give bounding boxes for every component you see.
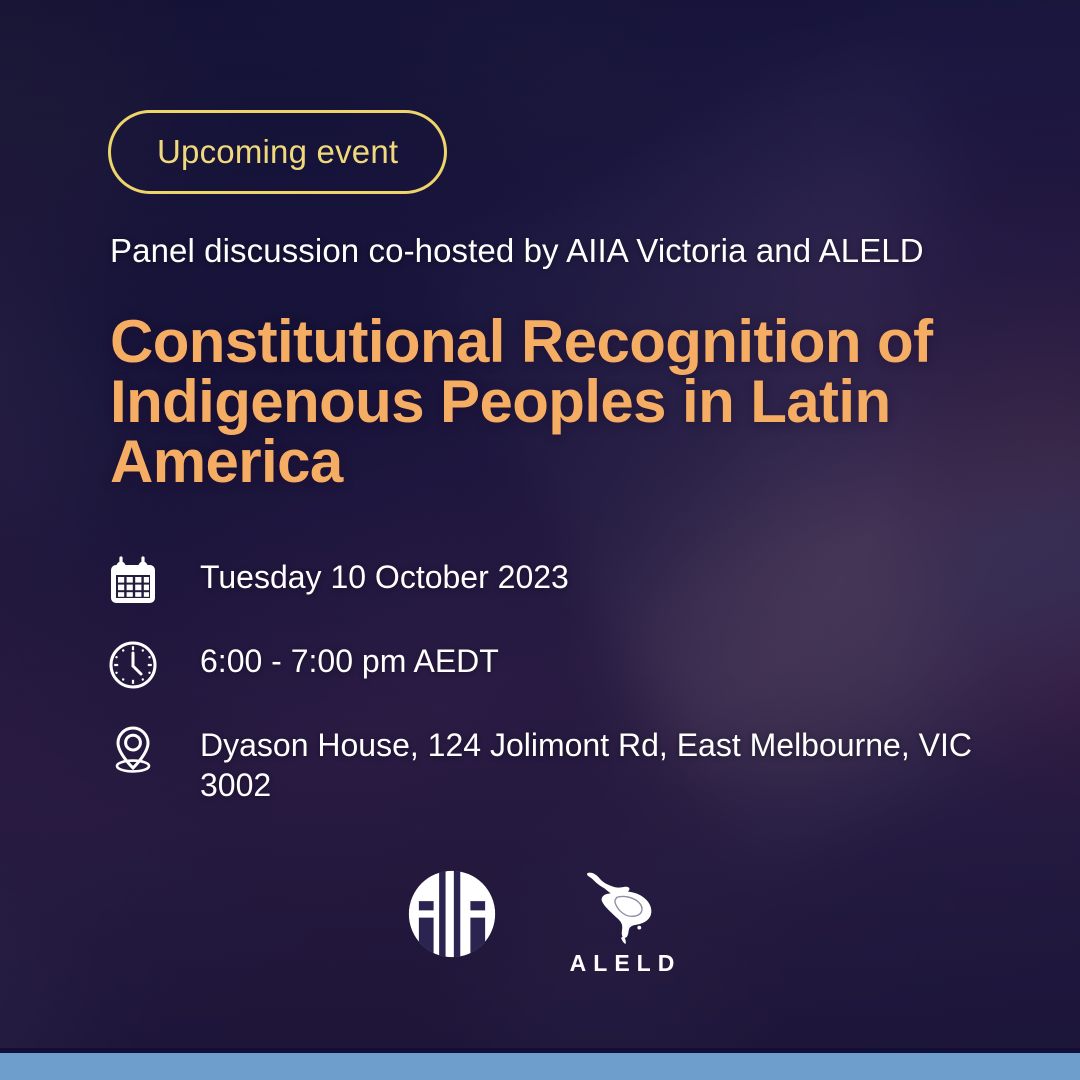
badge-label: Upcoming event [157, 133, 398, 171]
detail-row-time: 6:00 - 7:00 pm AEDT [104, 636, 984, 694]
event-title: Constitutional Recognition of Indigenous… [110, 312, 960, 492]
clock-icon [104, 636, 162, 694]
bottom-bar [0, 1053, 1080, 1080]
upcoming-event-badge: Upcoming event [108, 110, 447, 194]
aleld-logo: ALELD [570, 868, 674, 977]
detail-row-location: Dyason House, 124 Jolimont Rd, East Melb… [104, 720, 984, 805]
detail-row-date: Tuesday 10 October 2023 [104, 552, 984, 610]
poster-content: Upcoming event Panel discussion co-hoste… [0, 0, 1080, 1080]
event-poster: Upcoming event Panel discussion co-hoste… [0, 0, 1080, 1080]
latin-america-australia-map-icon [578, 868, 666, 944]
event-details-list: Tuesday 10 October 2023 [104, 552, 984, 831]
detail-text-date: Tuesday 10 October 2023 [200, 552, 569, 598]
detail-text-location: Dyason House, 124 Jolimont Rd, East Melb… [200, 720, 984, 805]
location-pin-icon [104, 720, 162, 778]
calendar-icon [104, 552, 162, 610]
aleld-wordmark: ALELD [563, 950, 682, 977]
event-subtitle: Panel discussion co-hosted by AIIA Victo… [110, 232, 924, 270]
detail-text-time: 6:00 - 7:00 pm AEDT [200, 636, 499, 682]
logo-row: ALELD [0, 868, 1080, 977]
aiia-logo [406, 868, 498, 960]
